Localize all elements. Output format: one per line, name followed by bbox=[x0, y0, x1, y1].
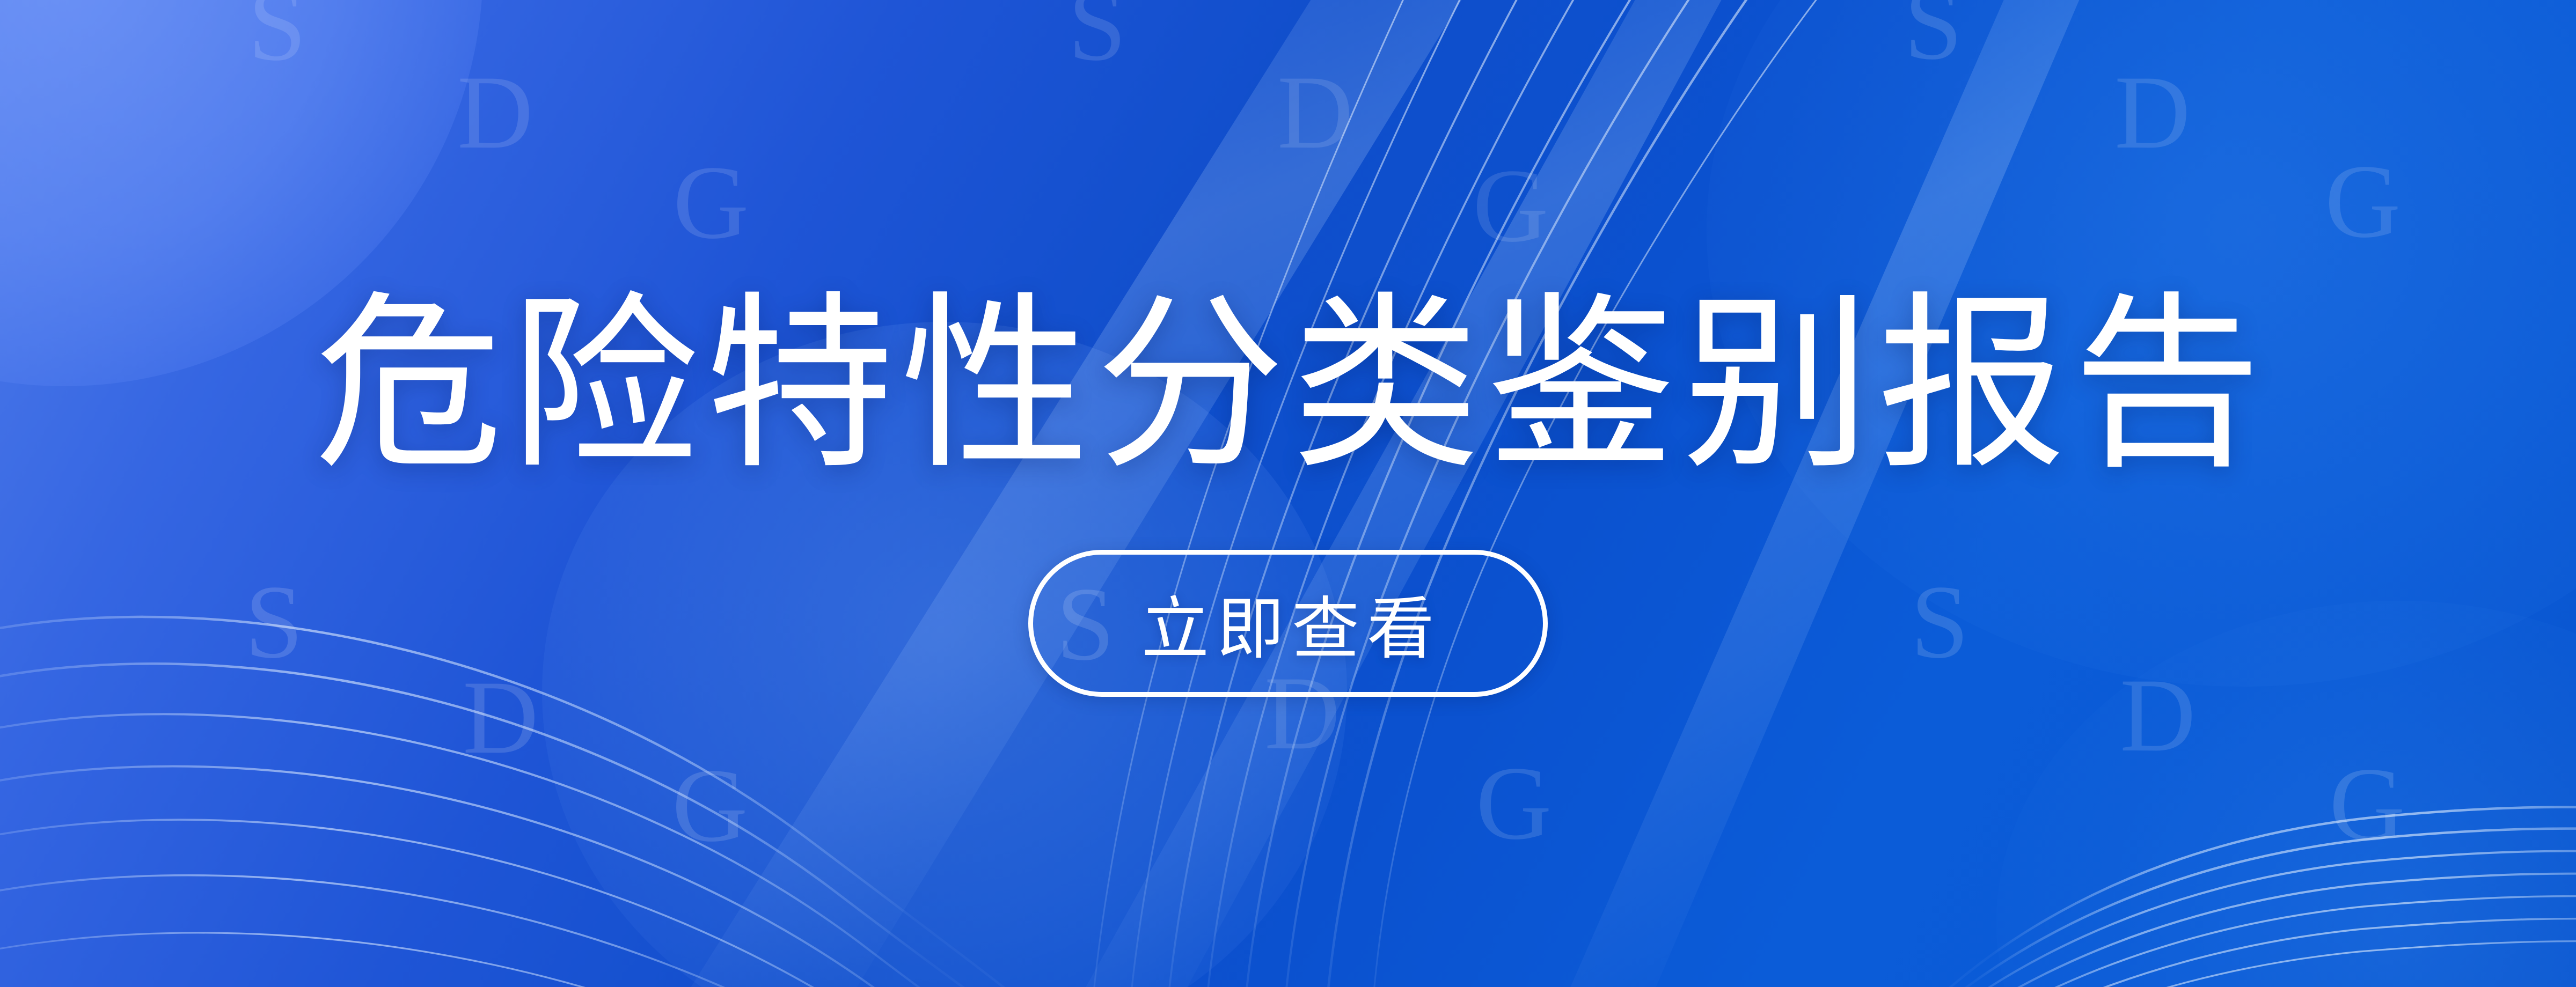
hazard-report-banner: SDGSDGSDGSDGSDGSDG 危险特性分类鉴别报告 立即查看 bbox=[0, 0, 2576, 987]
banner-title: 危险特性分类鉴别报告 bbox=[308, 290, 2268, 479]
view-now-button[interactable]: 立即查看 bbox=[1028, 550, 1548, 697]
cta-wrapper: 立即查看 bbox=[1028, 550, 1548, 697]
banner-content: 危险特性分类鉴别报告 立即查看 bbox=[0, 0, 2576, 987]
